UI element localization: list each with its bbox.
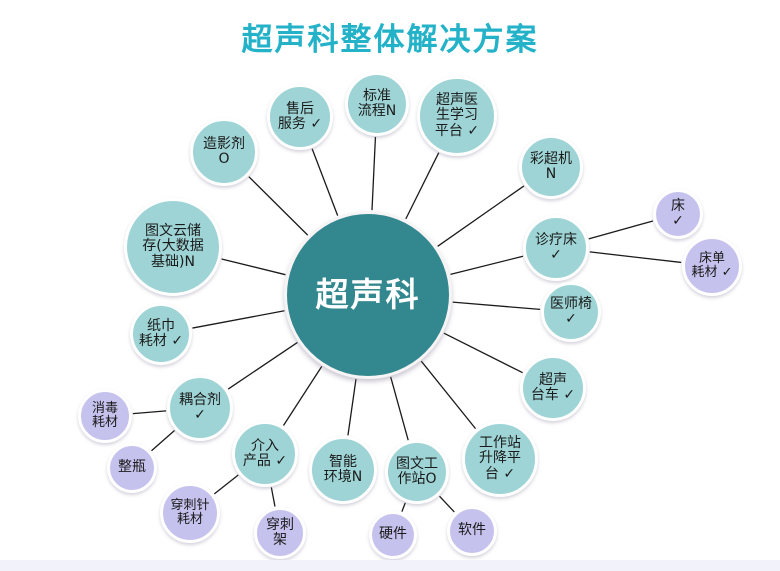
node-chaoshengtaiche[interactable]: 超声 台车 ✓ <box>520 355 586 421</box>
node-caichaoji[interactable]: 彩超机 N <box>519 135 583 199</box>
edge-center-to-zhenliaochuang <box>450 256 523 274</box>
node-chuang[interactable]: 床 ✓ <box>653 189 703 239</box>
edge-center-to-tuwenyunchucun <box>222 259 286 275</box>
node-label-chaoshengtaiche: 超声 台车 ✓ <box>529 373 577 403</box>
edge-center-to-biaozhun <box>372 137 375 210</box>
node-yingjian[interactable]: 硬件 <box>369 511 417 559</box>
edge-zhenliaochuang-to-chuangdan <box>590 252 681 263</box>
node-tuwenyunchucun[interactable]: 图文云储 存(大数据 基础)N <box>124 198 222 296</box>
edge-center-to-tuwenworkstation <box>391 377 409 440</box>
node-xiaodu[interactable]: 消毒 耗材 <box>78 389 132 443</box>
node-label-chuancizhen: 穿刺针 耗材 <box>168 499 211 527</box>
node-zhengping[interactable]: 整瓶 <box>107 443 157 493</box>
node-shengjiangpingtai[interactable]: 工作站 升降平 台 ✓ <box>462 421 538 497</box>
node-label-ouheji: 耦合剂 ✓ <box>177 393 223 423</box>
bottom-band <box>0 560 780 571</box>
node-ouheji[interactable]: 耦合剂 ✓ <box>167 375 233 441</box>
node-label-yingjian: 硬件 <box>377 527 409 542</box>
node-tuwenworkstation[interactable]: 图文工 作站O <box>385 440 449 504</box>
node-label-chuang: 床 ✓ <box>669 199 687 229</box>
node-shouhou[interactable]: 售后 服务 ✓ <box>267 84 333 150</box>
node-label-chuangdan: 床单 耗材 ✓ <box>689 252 734 280</box>
edge-center-to-ouheji <box>228 342 297 389</box>
edge-jierucp-to-chuancizhen <box>214 475 238 494</box>
node-label-chuancijia: 穿刺 架 <box>264 518 296 548</box>
node-label-jierucp: 介入 产品 ✓ <box>241 439 289 469</box>
edge-center-to-yishiyi <box>453 302 540 309</box>
node-chuancijia[interactable]: 穿刺 架 <box>254 507 306 559</box>
node-chuancizhen[interactable]: 穿刺针 耗材 <box>160 483 220 543</box>
edge-center-to-chaoshengtaiche <box>444 333 523 373</box>
edge-center-to-zhinenghuanjing <box>348 379 356 435</box>
edge-center-to-shengjiangpingtai <box>421 361 475 428</box>
node-zhenliaochuang[interactable]: 诊疗床 ✓ <box>523 215 589 281</box>
node-label-shengjiangpingtai: 工作站 升降平 台 ✓ <box>477 436 523 481</box>
edge-center-to-caichaoji <box>438 186 524 246</box>
node-label-biaozhun: 标准 流程N <box>356 89 398 119</box>
node-label-xiaodu: 消毒 耗材 <box>90 402 120 430</box>
mindmap-canvas: 超声科整体解决方案 造影剂 O售后 服务 ✓标准 流程N超声医 生学习 平台 ✓… <box>0 0 780 571</box>
edge-ouheji-to-zhengping <box>151 430 174 450</box>
node-yishiyi[interactable]: 医师椅 ✓ <box>541 282 601 342</box>
node-jierucp[interactable]: 介入 产品 ✓ <box>232 421 298 487</box>
node-label-caichaoji: 彩超机 N <box>528 152 574 182</box>
edge-tuwenworkstation-to-ruanjian <box>440 496 455 512</box>
node-label-tuwenworkstation: 图文工 作站O <box>394 457 440 487</box>
node-label-zhijin: 纸巾 耗材 ✓ <box>137 319 185 349</box>
node-label-ruanjian: 软件 <box>456 523 488 538</box>
node-zhijin[interactable]: 纸巾 耗材 ✓ <box>130 303 192 365</box>
node-label-zaoyingji: 造影剂 O <box>201 137 247 167</box>
edge-center-to-shouhou <box>312 149 338 216</box>
edge-center-to-xuexipingtai <box>406 153 439 219</box>
node-center[interactable]: 超声科 <box>284 211 452 379</box>
node-label-zhengping: 整瓶 <box>116 460 148 475</box>
node-biaozhun[interactable]: 标准 流程N <box>345 72 409 136</box>
node-zaoyingji[interactable]: 造影剂 O <box>190 118 258 186</box>
node-label-tuwenyunchucun: 图文云储 存(大数据 基础)N <box>140 224 205 269</box>
node-label-center: 超声科 <box>314 277 423 313</box>
edge-center-to-zaoyingji <box>249 177 308 235</box>
edge-zhenliaochuang-to-chuang <box>589 221 653 239</box>
edge-jierucp-to-chuancijia <box>271 487 275 506</box>
node-label-xuexipingtai: 超声医 生学习 平台 ✓ <box>433 93 481 138</box>
node-label-yishiyi: 医师椅 ✓ <box>548 297 594 327</box>
edge-center-to-jierucp <box>283 366 321 425</box>
node-label-zhinenghuanjing: 智能 环境N <box>322 455 364 485</box>
edge-tuwenworkstation-to-yingjian <box>402 503 405 512</box>
node-ruanjian[interactable]: 软件 <box>447 506 497 556</box>
node-chuangdan[interactable]: 床单 耗材 ✓ <box>682 236 742 296</box>
edge-center-to-zhijin <box>192 311 284 328</box>
edge-ouheji-to-xiaodu <box>133 411 166 414</box>
node-label-zhenliaochuang: 诊疗床 ✓ <box>533 233 579 263</box>
node-xuexipingtai[interactable]: 超声医 生学习 平台 ✓ <box>417 76 497 156</box>
node-zhinenghuanjing[interactable]: 智能 环境N <box>309 436 377 504</box>
node-label-shouhou: 售后 服务 ✓ <box>276 102 324 132</box>
